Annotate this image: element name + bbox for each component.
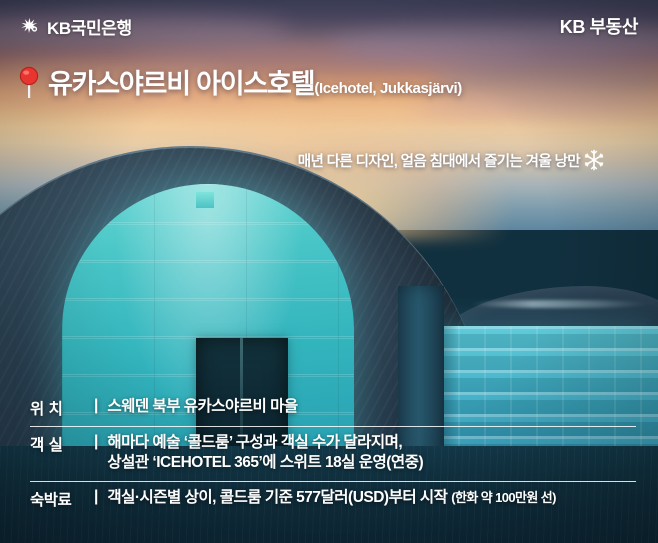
info-value-rooms-line1: 해마다 예술 ‘콜드룸’ 구성과 객실 수가 달라지며,: [107, 434, 402, 451]
snow-ridge-highlight: [470, 300, 650, 308]
top-bar: KB국민은행 KB 부동산: [0, 0, 658, 52]
icehotel-info-card: KB국민은행 KB 부동산 유카스야르비 아이스호텔 (Icehotel, Ju…: [0, 0, 658, 543]
page-title-sub: (Icehotel, Jukkasjärvi): [314, 80, 462, 97]
info-separator-bar: |: [94, 488, 98, 506]
info-value-location: 스웨덴 북부 유카스야르비 마을: [107, 397, 297, 418]
info-label-rooms: 객 실: [30, 433, 92, 455]
tagline: 매년 다른 디자인, 얼음 침대에서 즐기는 겨울 낭만: [298, 148, 606, 172]
info-separator-bar: |: [94, 397, 98, 415]
info-value-rooms-line2: 상설관 ‘ICEHOTEL 365’에 스위트 18실 운영(연중): [107, 454, 423, 471]
info-value-rate-note: (한화 약 100만원 선): [451, 490, 556, 505]
info-value-rate: 객실·시즌별 상이, 콜드룸 기준 577달러(USD)부터 시작 (한화 약 …: [107, 488, 555, 509]
snowflake-icon: [582, 148, 606, 172]
kb-star-icon: [20, 16, 40, 36]
tagline-text: 매년 다른 디자인, 얼음 침대에서 즐기는 겨울 낭만: [298, 150, 580, 171]
ice-keystone: [196, 192, 214, 208]
info-panel: 위 치 | 스웨덴 북부 유카스야르비 마을 객 실 | 해마다 예술 ‘콜드룸…: [0, 391, 658, 543]
kb-kookmin-bank-logo[interactable]: KB국민은행: [20, 14, 132, 39]
page-title-main: 유카스야르비 아이스호텔: [48, 62, 314, 101]
info-row-location: 위 치 | 스웨덴 북부 유카스야르비 마을: [0, 391, 658, 426]
info-value-rate-main: 객실·시즌별 상이, 콜드룸 기준 577달러(USD)부터 시작: [107, 489, 447, 506]
info-value-rooms: 해마다 예술 ‘콜드룸’ 구성과 객실 수가 달라지며, 상설관 ‘ICEHOT…: [107, 433, 423, 474]
kb-real-estate-logo[interactable]: KB 부동산: [560, 13, 638, 39]
info-row-rate: 숙박료 | 객실·시즌별 상이, 콜드룸 기준 577달러(USD)부터 시작 …: [0, 482, 658, 517]
info-separator-bar: |: [94, 433, 98, 451]
info-label-location: 위 치: [30, 397, 92, 419]
page-title: 유카스야르비 아이스호텔 (Icehotel, Jukkasjärvi): [18, 62, 462, 101]
location-pin-icon: [18, 65, 40, 99]
info-row-rooms: 객 실 | 해마다 예술 ‘콜드룸’ 구성과 객실 수가 달라지며, 상설관 ‘…: [0, 427, 658, 481]
info-label-rate: 숙박료: [30, 488, 92, 510]
kb-logo-text: KB국민은행: [47, 14, 132, 39]
